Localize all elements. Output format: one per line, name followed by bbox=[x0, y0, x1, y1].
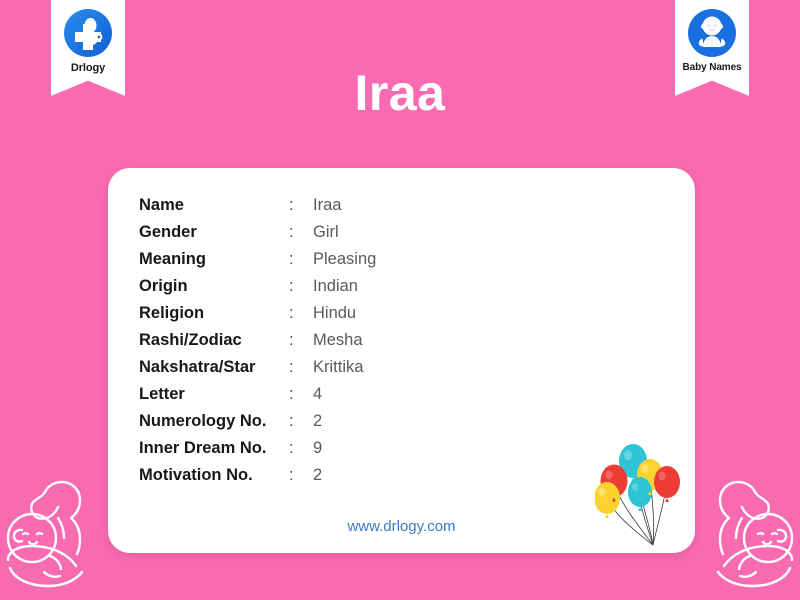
baby-icon bbox=[686, 7, 738, 59]
table-row: Rashi/Zodiac : Mesha bbox=[139, 327, 376, 354]
row-value: Girl bbox=[313, 219, 376, 246]
row-value: 2 bbox=[313, 408, 376, 435]
table-row: Letter : 4 bbox=[139, 381, 376, 408]
row-label: Meaning bbox=[139, 246, 289, 273]
table-body: Name : Iraa Gender : Girl Meaning : Plea… bbox=[139, 192, 376, 489]
name-details-card: Name : Iraa Gender : Girl Meaning : Plea… bbox=[108, 168, 695, 553]
row-value: Pleasing bbox=[313, 246, 376, 273]
name-details-table: Name : Iraa Gender : Girl Meaning : Plea… bbox=[139, 192, 376, 489]
row-separator: : bbox=[289, 273, 313, 300]
row-separator: : bbox=[289, 300, 313, 327]
row-label: Religion bbox=[139, 300, 289, 327]
row-separator: : bbox=[289, 192, 313, 219]
row-separator: : bbox=[289, 219, 313, 246]
row-value: Mesha bbox=[313, 327, 376, 354]
table-row: Gender : Girl bbox=[139, 219, 376, 246]
row-separator: : bbox=[289, 246, 313, 273]
decoration-mother-baby-left bbox=[0, 460, 106, 600]
table-row: Name : Iraa bbox=[139, 192, 376, 219]
table-row: Origin : Indian bbox=[139, 273, 376, 300]
baby-names-logo-icon bbox=[686, 7, 738, 59]
row-value: 4 bbox=[313, 381, 376, 408]
row-label: Numerology No. bbox=[139, 408, 289, 435]
row-value: Indian bbox=[313, 273, 376, 300]
page-title: Iraa bbox=[0, 66, 800, 121]
balloons-icon bbox=[595, 437, 687, 553]
row-value: 2 bbox=[313, 462, 376, 489]
row-label: Rashi/Zodiac bbox=[139, 327, 289, 354]
row-label: Origin bbox=[139, 273, 289, 300]
row-value: Iraa bbox=[313, 192, 376, 219]
table-row: Religion : Hindu bbox=[139, 300, 376, 327]
mother-baby-icon bbox=[0, 460, 106, 600]
row-separator: : bbox=[289, 435, 313, 462]
table-row: Nakshatra/Star : Krittika bbox=[139, 354, 376, 381]
row-value: 9 bbox=[313, 435, 376, 462]
row-label: Name bbox=[139, 192, 289, 219]
table-row: Inner Dream No. : 9 bbox=[139, 435, 376, 462]
row-label: Motivation No. bbox=[139, 462, 289, 489]
row-separator: : bbox=[289, 354, 313, 381]
website-link[interactable]: www.drlogy.com bbox=[108, 518, 695, 535]
row-separator: : bbox=[289, 381, 313, 408]
row-value: Hindu bbox=[313, 300, 376, 327]
row-separator: : bbox=[289, 408, 313, 435]
row-value: Krittika bbox=[313, 354, 376, 381]
row-separator: : bbox=[289, 327, 313, 354]
row-label: Nakshatra/Star bbox=[139, 354, 289, 381]
mother-baby-icon bbox=[694, 460, 800, 600]
row-label: Inner Dream No. bbox=[139, 435, 289, 462]
row-label: Gender bbox=[139, 219, 289, 246]
table-row: Meaning : Pleasing bbox=[139, 246, 376, 273]
table-row: Numerology No. : 2 bbox=[139, 408, 376, 435]
decoration-balloons bbox=[595, 437, 687, 553]
table-row: Motivation No. : 2 bbox=[139, 462, 376, 489]
drlogy-logo-icon bbox=[62, 7, 114, 59]
row-label: Letter bbox=[139, 381, 289, 408]
drlogy-medical-cross-doctor-icon bbox=[62, 7, 114, 59]
row-separator: : bbox=[289, 462, 313, 489]
decoration-mother-baby-right bbox=[694, 460, 800, 600]
